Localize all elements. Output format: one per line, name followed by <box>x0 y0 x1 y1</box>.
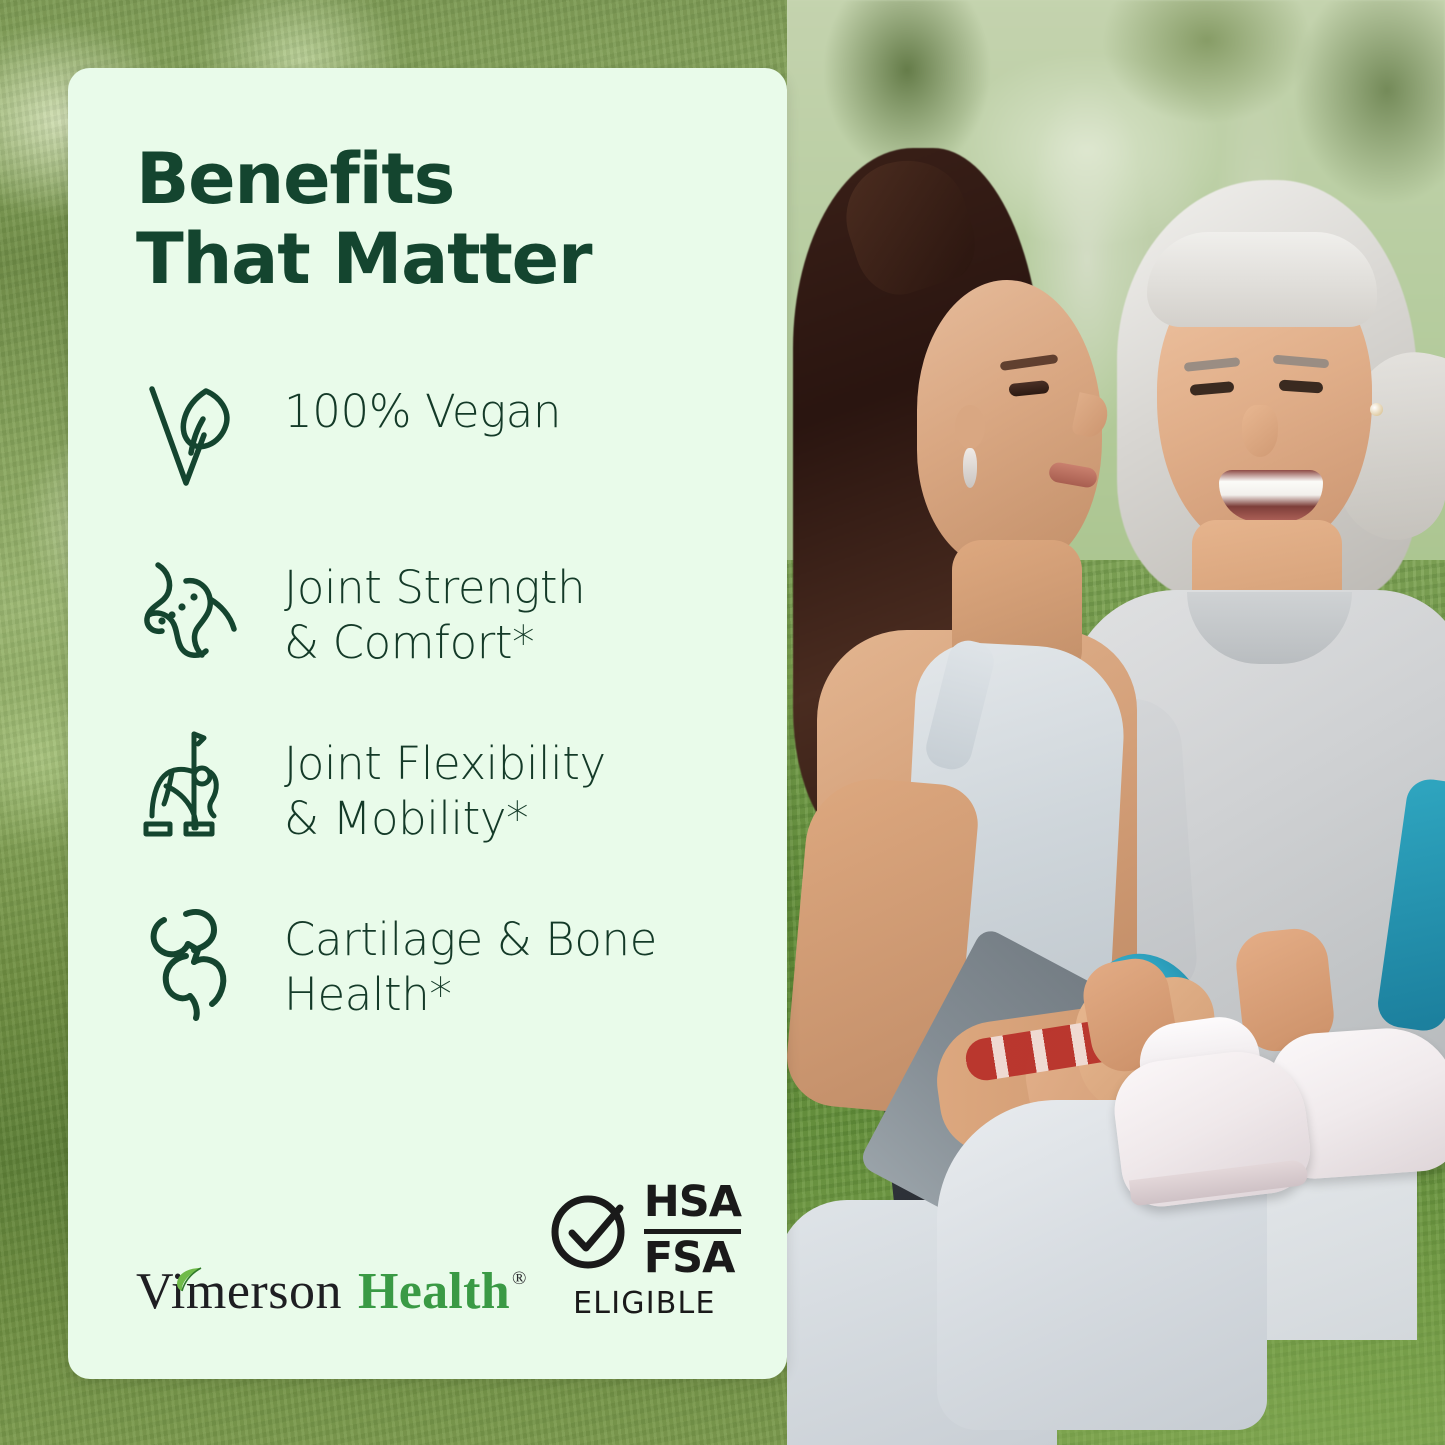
older-woman-earring <box>1370 403 1383 416</box>
logo-word-vimerson: Vimerson <box>136 1262 342 1321</box>
young-woman-ear <box>955 405 985 449</box>
lifestyle-photo <box>787 0 1445 1445</box>
hsa-fsa-eligible-badge: HSA FSA ELIGIBLE <box>548 1181 741 1321</box>
benefits-card: Benefits That Matter 100% Vegan <box>68 68 787 1379</box>
older-woman-nose <box>1242 405 1278 457</box>
fsa-text: FSA <box>644 1237 741 1280</box>
cartilage-bone-icon <box>136 898 248 1028</box>
benefit-label: Joint Strength & Comfort* <box>284 546 585 672</box>
hsa-text: HSA <box>644 1181 741 1226</box>
benefit-item-joint-flexibility: Joint Flexibility & Mobility* <box>136 722 731 898</box>
yoga-stretch-icon <box>136 722 248 852</box>
card-footer: Vimerson Health ® HSA FSA <box>136 1181 741 1321</box>
headline-line-1: Benefits <box>136 138 454 220</box>
check-circle-icon <box>548 1188 634 1274</box>
benefit-item-cartilage-bone: Cartilage & Bone Health* <box>136 898 731 1074</box>
page-title: Benefits That Matter <box>136 140 731 300</box>
older-woman-smile <box>1219 470 1323 522</box>
benefit-item-joint-strength: Joint Strength & Comfort* <box>136 546 731 722</box>
hsa-badge-top-row: HSA FSA <box>548 1181 741 1280</box>
knee-joint-icon <box>136 546 248 676</box>
vimerson-health-logo: Vimerson Health ® <box>136 1262 526 1321</box>
young-woman-earring <box>963 448 977 488</box>
benefit-label: Joint Flexibility & Mobility* <box>284 722 606 848</box>
older-woman-bangs <box>1147 232 1377 327</box>
headline-line-2: That Matter <box>136 218 591 300</box>
logo-word-health: Health <box>358 1262 510 1321</box>
benefit-label: Cartilage & Bone Health* <box>284 898 657 1024</box>
registered-trademark-icon: ® <box>512 1268 526 1290</box>
benefit-label: 100% Vegan <box>284 370 561 440</box>
hsa-fsa-letters: HSA FSA <box>644 1181 741 1280</box>
leaf-icon <box>136 370 248 500</box>
benefit-item-vegan: 100% Vegan <box>136 370 731 546</box>
promo-image: Benefits That Matter 100% Vegan <box>0 0 1445 1445</box>
logo-leaf-icon <box>174 1246 204 1272</box>
eligible-text: ELIGIBLE <box>573 1286 715 1321</box>
benefits-list: 100% Vegan Joint Strength & Comfo <box>136 370 731 1074</box>
